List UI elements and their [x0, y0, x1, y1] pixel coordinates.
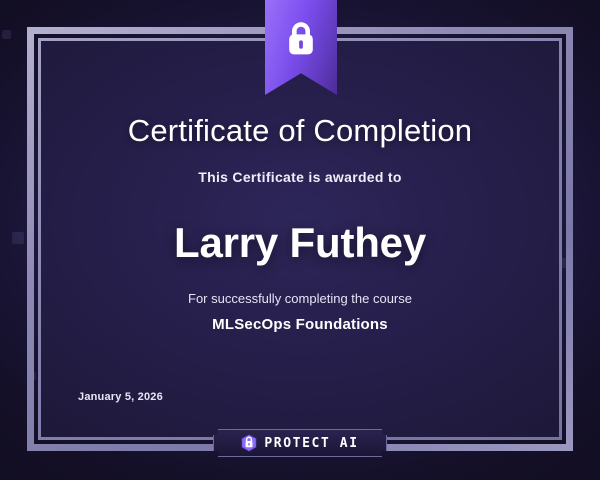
brand-name: PROTECT AI	[264, 436, 358, 451]
lock-icon	[284, 19, 318, 57]
certificate-page: Certificate of Completion This Certifica…	[0, 0, 600, 480]
recipient-name: Larry Futhey	[41, 219, 559, 267]
decorative-square	[2, 30, 11, 39]
decorative-square	[12, 232, 24, 244]
protect-ai-shield-icon	[241, 434, 257, 452]
issue-date: January 5, 2026	[78, 391, 163, 403]
brand-badge[interactable]: PROTECT AI	[213, 429, 387, 457]
course-name: MLSecOps Foundations	[41, 316, 559, 333]
certificate-content: Certificate of Completion This Certifica…	[41, 41, 559, 437]
page-title: Certificate of Completion	[41, 113, 559, 149]
course-lead-label: For successfully completing the course	[41, 291, 559, 306]
awarded-to-label: This Certificate is awarded to	[41, 169, 559, 185]
